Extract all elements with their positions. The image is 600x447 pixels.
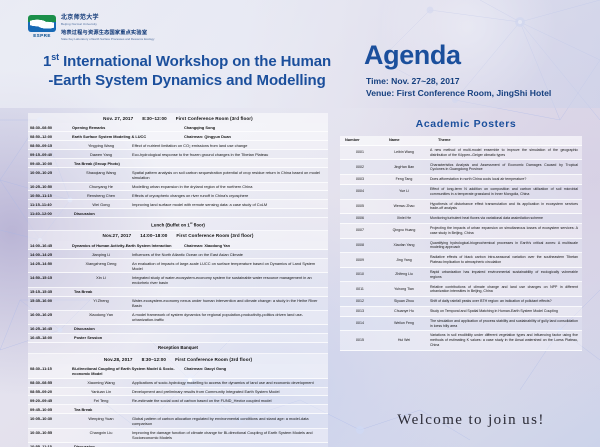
poster-table-row: 0015Hui WeiVariations in soil erodibilit…: [340, 331, 582, 350]
academic-posters-heading: Academic Posters: [366, 118, 566, 130]
agenda-theme: Spatial pattern analysis on soil carbon …: [130, 168, 328, 181]
agenda-time: 14:50–15:15: [28, 273, 72, 286]
agenda-break-label: Discussion: [72, 443, 328, 447]
agenda-talk-row: 08:30–08:55Xiaoming WangApplications of …: [28, 379, 328, 388]
agenda-speaker: Xiaodong Yan: [72, 311, 130, 324]
daybar-room: First Conference Room (3rd floor): [176, 233, 253, 238]
agenda-break-row: 15:15–15:35Tea Break: [28, 288, 328, 297]
agenda-daybar-day2-morning: Nov.28, 20178:30–12:00First Conference R…: [28, 354, 328, 364]
agenda-break-row: 11:40–12:00Discussion: [28, 209, 328, 218]
poster-table-row: 0013Chuanye HuStudy on Temporal and Spat…: [340, 307, 582, 317]
event-venue: Venue: First Conference Room, JingShi Ho…: [366, 88, 551, 100]
title-line2: -Earth System Dynamics and Modelling: [48, 72, 325, 89]
logo-text-block: 北京师范大学 Beijing Normal University 地表过程与资源…: [61, 12, 154, 41]
agenda-theme: Re-estimate the social cost of carbon ba…: [130, 396, 328, 404]
poster-table-row: 0009Jing YangRadiative effects of black …: [340, 253, 582, 268]
agenda-talk-row: 10:30–10:55Changxin LiuImproving the dam…: [28, 429, 328, 443]
poster-number: 0013: [340, 307, 380, 316]
agenda-speaker: Wei Gong: [72, 200, 130, 208]
agenda-speaker: Yi Zheng: [72, 297, 130, 310]
agenda-chair: Chairman: Xiaodong Yan: [182, 241, 328, 249]
title-ordinal-suffix: st: [51, 52, 59, 62]
poster-number: 0006: [340, 214, 380, 223]
agenda-speaker: Jianping Li: [72, 250, 130, 258]
daybar-date: Nov.28, 2017: [104, 357, 133, 362]
agenda-break-label: Discussion: [72, 325, 328, 333]
poster-table-row: 0002JingHan BanCharacteristics Analysis …: [340, 160, 582, 175]
agenda-time: 16:45–18:00: [28, 334, 72, 342]
poster-number: 0010: [340, 270, 380, 279]
agenda-break-row: 09:40–10:00Tea Break (Group Photo): [28, 159, 328, 168]
agenda-talk-row: 14:25–14:50Xiangzheng DengAn evaluation …: [28, 259, 328, 273]
agenda-time: 11:15–11:40: [28, 200, 72, 208]
poster-author: Yue Li: [380, 187, 428, 196]
poster-number: 0012: [340, 297, 380, 306]
poster-author: JingHan Ban: [380, 163, 428, 172]
logo-university-en: Beijing Normal University: [61, 22, 154, 26]
title-line1-rest: International Workshop on the Human: [59, 53, 331, 70]
agenda-speaker: Fei Teng: [72, 396, 130, 404]
event-time-venue: Time: Nov. 27~28, 2017 Venue: First Conf…: [366, 76, 551, 99]
poster-author: Siyuan Zhou: [380, 297, 428, 306]
agenda-time: 08:55–09:20: [28, 388, 72, 396]
agenda-speaker: Shaoqiang Wang: [72, 168, 130, 181]
daybar-room: First Conference Room (3rd floor): [176, 116, 253, 121]
agenda-daybar-day1-morning: Nov. 27, 20178:30–12:00First Conference …: [28, 113, 328, 123]
agenda-break-row: 16:45–18:00Poster Session: [28, 334, 328, 343]
agenda-time: 11:40–12:00: [28, 209, 72, 217]
poster-number: 0004: [340, 187, 380, 196]
poster-table-row: 0003Feng TangDoes afforestation in north…: [340, 175, 582, 185]
agenda-theme: Effect of nutrient limitation on CO₂ emi…: [130, 141, 328, 149]
agenda-session-row: 14:00–16:45Dynamics of Human Activity-Ea…: [28, 241, 328, 250]
agenda-theme: Global pattern of carbon allocation regu…: [130, 414, 328, 427]
agenda-session-label: Bi-directional Coupling of Earth System …: [72, 364, 182, 377]
daybar-time: 8:30–12:00: [142, 357, 167, 362]
poster-theme: Radiative effects of black carbon intra-…: [428, 253, 582, 267]
poster-col-name: Name: [384, 136, 436, 145]
agenda-theme: Influences of the North Atlantic Ocean o…: [130, 250, 328, 258]
agenda-chair: Chairman: Qingyun Duan: [182, 132, 328, 140]
poster-table-row: 0014Weilun FengThe simulation and applic…: [340, 317, 582, 332]
agenda-talk-row: 08:50–09:15Yingping WangEffect of nutrie…: [28, 141, 328, 150]
poster-number: 0003: [340, 175, 380, 184]
agenda-speaker: Chunyang He: [72, 183, 130, 191]
logo-university-cn: 北京师范大学: [61, 12, 154, 21]
event-time: Time: Nov. 27~28, 2017: [366, 76, 551, 88]
poster-table-row: 0005Wenwu ZhaoHypothesis of disturbance …: [340, 200, 582, 215]
poster-theme: Rapid urbanization has impaired environm…: [428, 268, 582, 282]
logo-emblem-icon: ESPRE: [27, 15, 57, 39]
poster-author: Chuanye Hu: [380, 307, 428, 316]
poster-author: Leibin Wang: [380, 148, 428, 157]
poster-number: 0011: [340, 285, 380, 294]
agenda-speaker: Dawen Yang: [72, 150, 130, 158]
agenda-speaker: Wenping Yuan: [72, 414, 130, 427]
agenda-session-row: 08:30–08:50Opening RemarksChangqing Song: [28, 123, 328, 132]
agenda-session-label: Earth Surface System Modeling & LUCC: [72, 132, 182, 140]
agenda-time: 08:30–08:50: [28, 123, 72, 131]
poster-author: Yuhong Tian: [380, 285, 428, 294]
poster-number: 0008: [340, 241, 380, 250]
workshop-title: 1st International Workshop on the Human …: [22, 48, 352, 90]
poster-author: Wenwu Zhao: [380, 202, 428, 211]
agenda-talk-row: 14:00–14:25Jianping LiInfluences of the …: [28, 250, 328, 259]
poster-table-header: NumberNameTheme: [340, 136, 582, 146]
agenda-time: 09:15–09:40: [28, 150, 72, 158]
agenda-theme: Water-ecosystem-economy nexus under huma…: [130, 297, 328, 310]
agenda-theme: A model framework of system dynamics for…: [130, 311, 328, 324]
poster-theme: Does afforestation in north China cools …: [428, 175, 582, 184]
poster-author: Qingxu Huang: [380, 226, 428, 235]
poster-number: 0009: [340, 256, 380, 265]
agenda-daybar-day1-afternoon: Nov.27, 201714:00–18:00First Conference …: [28, 231, 328, 241]
daybar-room: First Conference Room (3rd floor): [175, 357, 252, 362]
welcome-message: Welcome to join us!: [366, 412, 576, 429]
agenda-talk-row: 14:50–15:15Xin LiIntegrated study of wat…: [28, 273, 328, 287]
poster-table-row: 0008Xiaofan YangQuantifying hydrological…: [340, 239, 582, 254]
agenda-time: 15:35–16:00: [28, 297, 72, 310]
poster-theme: A new method of multi-model ensemble to …: [428, 146, 582, 160]
poster-header: ESPRE 北京师范大学 Beijing Normal University 地…: [0, 0, 600, 108]
poster-table-row: 0007Qingxu HuangProjecting the impacts o…: [340, 224, 582, 239]
poster-author: Weilun Feng: [380, 319, 428, 328]
agenda-speaker: Xiangzheng Deng: [72, 259, 130, 272]
agenda-break-label: Poster Session: [72, 334, 328, 342]
agenda-theme: Improving the damage function of climate…: [130, 429, 328, 442]
logo-lab-en: State Key Laboratory of Earth Surface Pr…: [61, 37, 154, 41]
agenda-speaker: Xiaoming Wang: [72, 379, 130, 387]
agenda-chair: Changqing Song: [182, 123, 328, 131]
agenda-speaker: Changxin Liu: [72, 429, 130, 442]
poster-author: Jing Yang: [380, 256, 428, 265]
poster-theme: Study on Temporal and Spatial Matching i…: [428, 307, 582, 316]
academic-posters-table: NumberNameTheme0001Leibin WangA new meth…: [340, 136, 582, 351]
poster-table-row: 0012Siyuan ZhouShift of daily rainfall p…: [340, 297, 582, 307]
agenda-time: 08:50–12:00: [28, 132, 72, 140]
agenda-time: 10:25–10:50: [28, 183, 72, 191]
poster-theme: Effect of long-term N addition on compos…: [428, 185, 582, 199]
agenda-time: 08:30–08:55: [28, 379, 72, 387]
poster-theme: Projecting the impacts of urban expansio…: [428, 224, 582, 238]
agenda-theme: Modelling urban expansion in the dryland…: [130, 183, 328, 191]
agenda-talk-row: 16:00–16:25Xiaodong YanA model framework…: [28, 311, 328, 325]
agenda-reception-banner: Reception Banquet: [28, 343, 328, 354]
agenda-session-label: Dynamics of Human Activity-Earth System …: [72, 241, 182, 249]
poster-theme: Relative contributions of climate change…: [428, 282, 582, 296]
poster-theme: Shift of daily rainfall peaks over BTH r…: [428, 297, 582, 306]
poster-table-row: 0004Yue LiEffect of long-term N addition…: [340, 185, 582, 200]
poster-theme: Quantifying hydrological-biogeochemical …: [428, 239, 582, 253]
poster-table-row: 0010Zhifeng LiuRapid urbanization has im…: [340, 268, 582, 283]
logo-lab-cn: 地表过程与资源生态国家重点实验室: [61, 29, 154, 36]
agenda-theme: Development and preliminary results from…: [130, 388, 328, 396]
agenda-theme: Effects of cryospheric changes on river …: [130, 191, 328, 199]
poster-canvas: ESPRE 北京师范大学 Beijing Normal University 地…: [0, 0, 600, 447]
agenda-session-row: 08:50–12:00Earth Surface System Modeling…: [28, 132, 328, 141]
agenda-theme: Eco-hydrological response to the frozen …: [130, 150, 328, 158]
agenda-time: 10:30–10:55: [28, 429, 72, 442]
agenda-time: 09:20–09:45: [28, 396, 72, 404]
agenda-talk-row: 11:15–11:40Wei GongImproving land surfac…: [28, 200, 328, 209]
agenda-speaker: Yanluan Lin: [72, 388, 130, 396]
agenda-session-row: 08:30–11:15Bi-directional Coupling of Ea…: [28, 364, 328, 378]
agenda-time: 10:05–10:30: [28, 414, 72, 427]
agenda-time: 15:15–15:35: [28, 288, 72, 296]
agenda-heading: Agenda: [364, 40, 461, 71]
poster-col-number: Number: [340, 136, 384, 145]
agenda-break-row: 10:55–11:15Discussion: [28, 443, 328, 447]
agenda-time: 08:50–09:15: [28, 141, 72, 149]
agenda-talk-row: 08:55–09:20Yanluan LinDevelopment and pr…: [28, 388, 328, 397]
poster-author: Xiaofan Yang: [380, 241, 428, 250]
agenda-time: 09:40–10:00: [28, 159, 72, 167]
poster-table-row: 0001Leibin WangA new method of multi-mod…: [340, 146, 582, 161]
agenda-talk-row: 10:25–10:50Chunyang HeModelling urban ex…: [28, 183, 328, 192]
daybar-time: 8:30–12:00: [142, 116, 167, 121]
agenda-talk-row: 10:50–11:15Rensheng ChenEffects of cryos…: [28, 191, 328, 200]
poster-number: 0005: [340, 202, 380, 211]
title-ordinal-number: 1: [43, 53, 51, 70]
agenda-theme: Applications of socio-hydrology modellin…: [130, 379, 328, 387]
agenda-speaker: Yingping Wang: [72, 141, 130, 149]
agenda-time: 14:00–16:45: [28, 241, 72, 249]
agenda-break-label: Discussion: [72, 209, 328, 217]
poster-number: 0014: [340, 319, 380, 328]
agenda-break-row: 16:25–16:45Discussion: [28, 325, 328, 334]
agenda-talk-row: 09:20–09:45Fei TengRe-estimate the socia…: [28, 396, 328, 405]
agenda-theme: Improving land surface model with remote…: [130, 200, 328, 208]
agenda-speaker: Rensheng Chen: [72, 191, 130, 199]
poster-author: Zhifeng Liu: [380, 270, 428, 279]
poster-number: 0007: [340, 226, 380, 235]
agenda-theme: Integrated study of water-ecosystem-econ…: [130, 273, 328, 286]
agenda-talk-row: 09:15–09:40Dawen YangEco-hydrological re…: [28, 150, 328, 159]
agenda-speaker: Xin Li: [72, 273, 130, 286]
agenda-time: 09:45–10:05: [28, 405, 72, 413]
logo-espre-text: ESPRE: [33, 33, 51, 38]
poster-table-row: 0006Xinlei HeMonitoring turbulent heat f…: [340, 214, 582, 224]
poster-author: Xinlei He: [380, 214, 428, 223]
agenda-time: 14:25–14:50: [28, 259, 72, 272]
university-logo: ESPRE 北京师范大学 Beijing Normal University 地…: [27, 12, 154, 41]
poster-table-row: 0011Yuhong TianRelative contributions of…: [340, 282, 582, 297]
poster-theme: Monitoring turbulent heat fluxes via var…: [428, 214, 582, 223]
daybar-time: 14:00–18:00: [140, 233, 167, 238]
poster-author: Feng Tang: [380, 175, 428, 184]
poster-theme: Hypothesis of disturbance effect transmu…: [428, 200, 582, 214]
poster-theme: The simulation and application of proces…: [428, 317, 582, 331]
agenda-break-row: 09:45–10:05Tea Break: [28, 405, 328, 414]
daybar-date: Nov. 27, 2017: [103, 116, 133, 121]
agenda-theme: An evaluation of impacts of large-scale …: [130, 259, 328, 272]
agenda-time: 08:30–11:15: [28, 364, 72, 377]
agenda-table: Nov. 27, 20178:30–12:00First Conference …: [28, 113, 328, 447]
agenda-talk-row: 10:05–10:30Wenping YuanGlobal pattern of…: [28, 414, 328, 428]
poster-theme: Characteristics Analysis and Assessment …: [428, 160, 582, 174]
poster-number: 0015: [340, 336, 380, 345]
agenda-break-label: Tea Break: [72, 405, 328, 413]
agenda-break-label: Tea Break (Group Photo): [72, 159, 328, 167]
daybar-date: Nov.27, 2017: [103, 233, 132, 238]
agenda-time: 14:00–14:25: [28, 250, 72, 258]
agenda-talk-row: 15:35–16:00Yi ZhengWater-ecosystem-econo…: [28, 297, 328, 311]
agenda-session-label: Opening Remarks: [72, 123, 182, 131]
agenda-lunch-banner-day1: Lunch (Buffet on 1st floor): [28, 218, 328, 230]
agenda-time: 10:55–11:15: [28, 443, 72, 447]
agenda-break-label: Tea Break: [72, 288, 328, 296]
agenda-time: 16:25–16:45: [28, 325, 72, 333]
agenda-time: 10:50–11:15: [28, 191, 72, 199]
agenda-talk-row: 10:00–10:25Shaoqiang WangSpatial pattern…: [28, 168, 328, 182]
poster-col-theme: Theme: [436, 136, 582, 145]
poster-author: Hui Wei: [380, 336, 428, 345]
poster-theme: Variations in soil erodibility under dif…: [428, 331, 582, 349]
agenda-time: 16:00–16:25: [28, 311, 72, 324]
poster-number: 0001: [340, 148, 380, 157]
agenda-chair: Chairman: Daoyi Gong: [182, 364, 328, 377]
poster-number: 0002: [340, 163, 380, 172]
agenda-time: 10:00–10:25: [28, 168, 72, 181]
logo-badge-shape: [28, 15, 56, 32]
